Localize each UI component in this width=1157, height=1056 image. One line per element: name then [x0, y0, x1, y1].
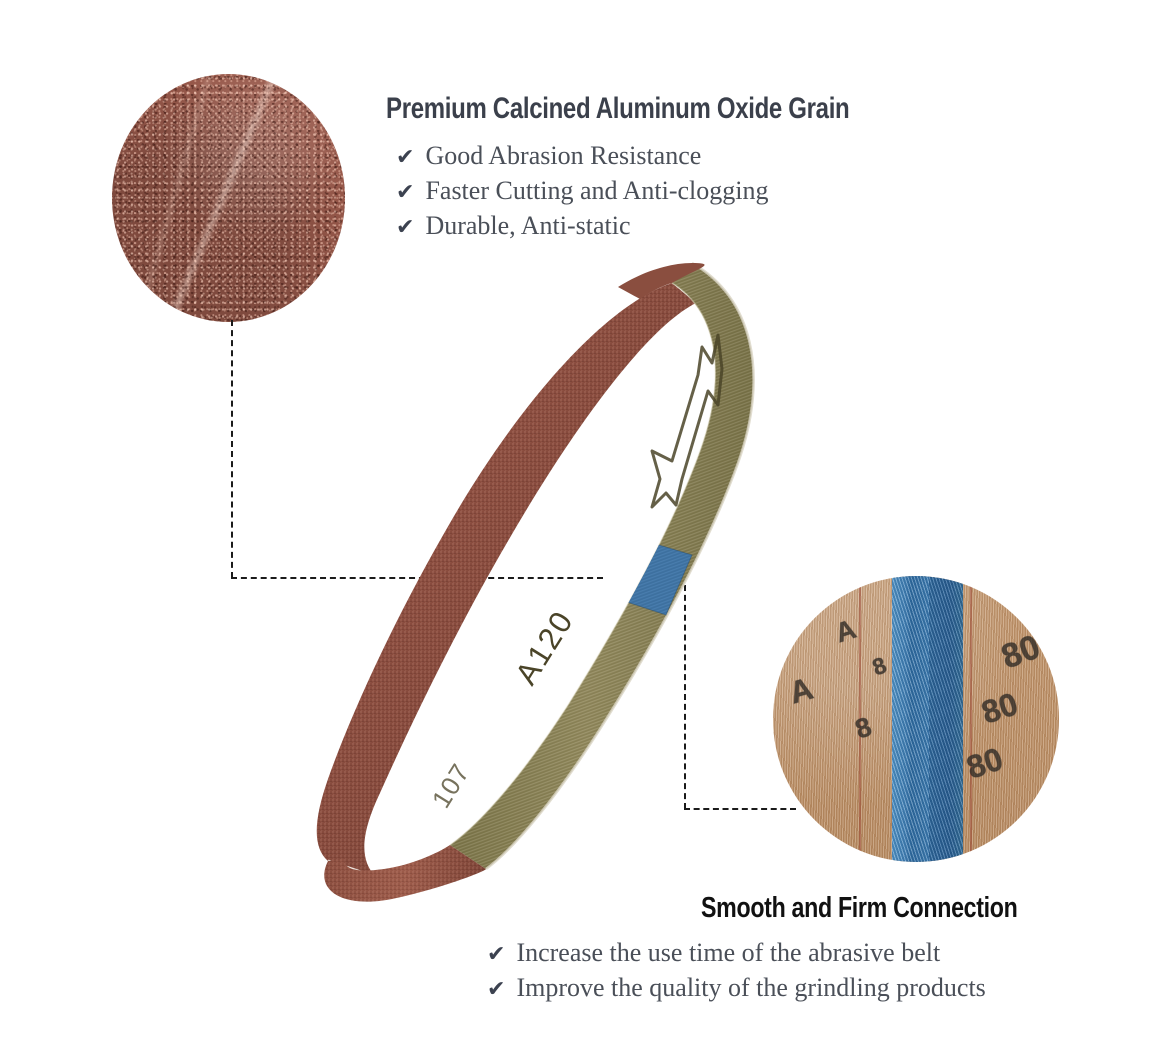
belt-length-label: 107	[426, 758, 476, 813]
check-icon: ✔	[487, 979, 505, 1001]
check-icon: ✔	[396, 147, 414, 169]
list-item: ✔ Faster Cutting and Anti-clogging	[396, 173, 768, 208]
top-callout-bullet-list: ✔ Good Abrasion Resistance ✔ Faster Cutt…	[396, 138, 768, 243]
list-item-label: Durable, Anti-static	[425, 208, 630, 243]
list-item-label: Increase the use time of the abrasive be…	[516, 935, 940, 970]
list-item-label: Faster Cutting and Anti-clogging	[425, 173, 768, 208]
joint-tape-light	[892, 576, 929, 862]
list-item: ✔ Durable, Anti-static	[396, 208, 768, 243]
list-item-label: Good Abrasion Resistance	[425, 138, 701, 173]
check-icon: ✔	[396, 182, 414, 204]
list-item: ✔ Increase the use time of the abrasive …	[487, 935, 986, 970]
print-guide-line	[970, 576, 972, 862]
bottom-callout-bullet-list: ✔ Increase the use time of the abrasive …	[487, 935, 986, 1005]
belt-grit-label: A120	[508, 604, 580, 691]
list-item: ✔ Good Abrasion Resistance	[396, 138, 768, 173]
joint-tape-dark	[929, 576, 963, 862]
belt-joint-closeup-image: A A 8 8 80 80 80	[773, 576, 1059, 862]
check-icon: ✔	[396, 217, 414, 239]
bottom-callout-heading: Smooth and Firm Connection	[701, 892, 1017, 925]
grain-callout-leader-vertical	[231, 320, 233, 578]
list-item: ✔ Improve the quality of the grindling p…	[487, 970, 986, 1005]
list-item-label: Improve the quality of the grindling pro…	[516, 970, 985, 1005]
top-callout-heading: Premium Calcined Aluminum Oxide Grain	[386, 92, 849, 126]
check-icon: ✔	[487, 944, 505, 966]
infographic-canvas: Premium Calcined Aluminum Oxide Grain ✔ …	[0, 0, 1157, 1056]
